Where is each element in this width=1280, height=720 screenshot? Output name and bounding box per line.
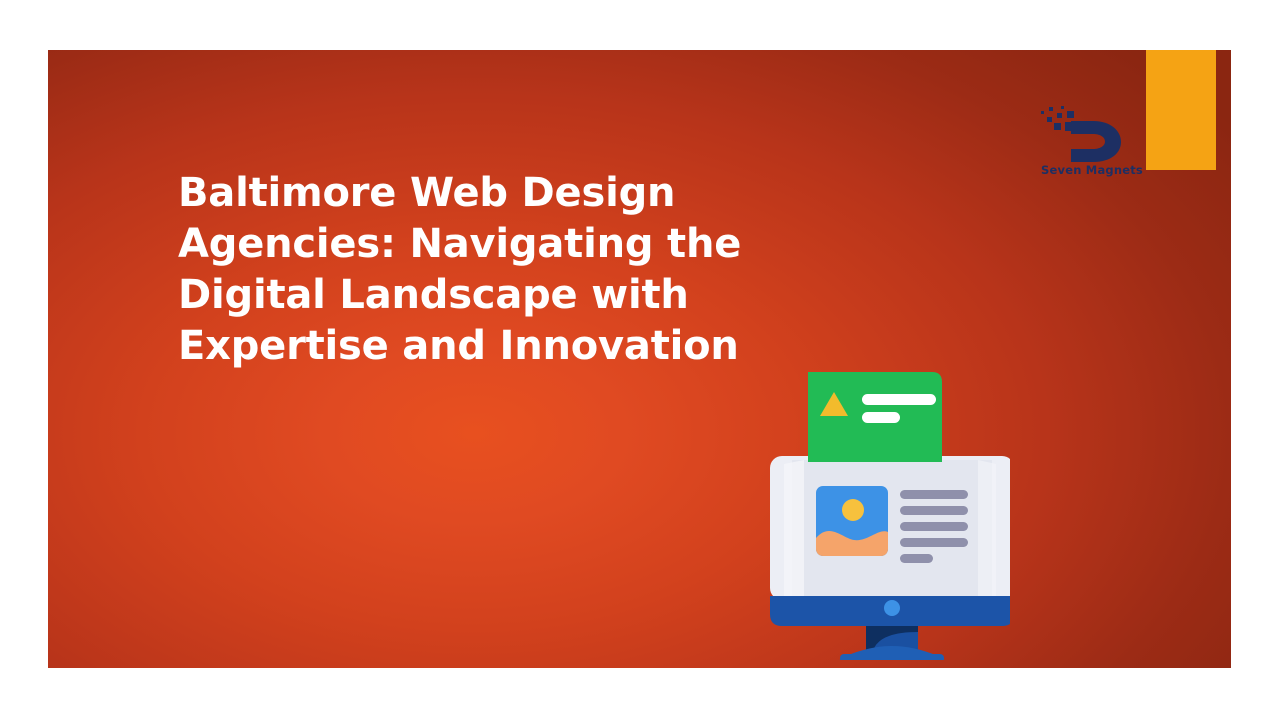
website-design-monitor-illustration — [720, 360, 1010, 660]
magnet-d-pixel-logo-icon — [1041, 105, 1133, 163]
yellow-accent-rectangle — [1146, 50, 1216, 170]
slide-canvas: Baltimore Web Design Agencies: Navigatin… — [48, 50, 1231, 668]
image-placeholder-icon — [816, 486, 888, 556]
power-indicator-dot — [884, 600, 900, 616]
notification-banner — [808, 372, 942, 462]
page-title: Baltimore Web Design Agencies: Navigatin… — [178, 168, 818, 372]
monitor-base — [840, 646, 945, 660]
monitor-casing — [770, 456, 1010, 600]
monitor-bottom-bezel — [770, 596, 1010, 626]
brand-name: Seven Magnets — [1033, 163, 1151, 177]
brand-logo[interactable]: Seven Magnets — [1033, 105, 1151, 187]
